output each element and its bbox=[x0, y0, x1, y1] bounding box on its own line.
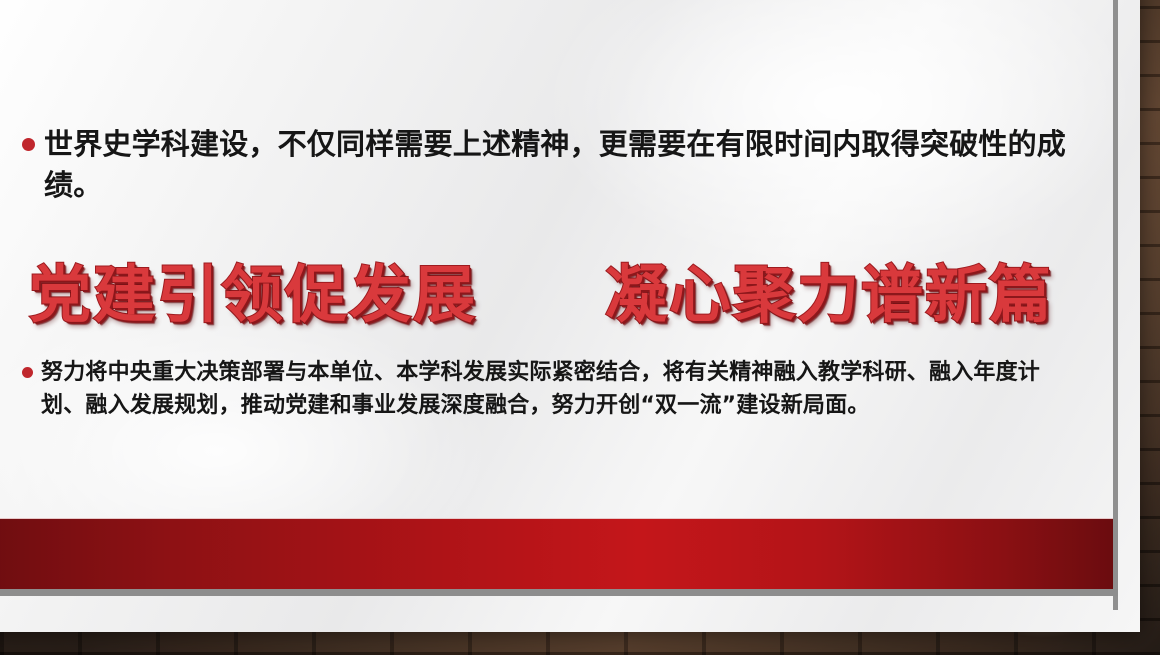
footer-band-shadow bbox=[0, 589, 1118, 596]
bullet-paragraph-bottom: 努力将中央重大决策部署与本单位、本学科发展实际紧密结合，将有关精神融入教学科研、… bbox=[22, 356, 1080, 422]
headline-wordart: 党建引领促发展 凝心聚力谱新篇 bbox=[0, 244, 1096, 334]
bullet-text-top: 世界史学科建设，不仅同样需要上述精神，更需要在有限时间内取得突破性的成绩。 bbox=[44, 124, 1077, 206]
footer-red-band bbox=[0, 518, 1113, 589]
bullet-dot-icon bbox=[22, 138, 35, 151]
bullet-dot-icon bbox=[22, 367, 33, 378]
slide-panel: 世界史学科建设，不仅同样需要上述精神，更需要在有限时间内取得突破性的成绩。 党建… bbox=[0, 0, 1140, 632]
bullet-paragraph-top: 世界史学科建设，不仅同样需要上述精神，更需要在有限时间内取得突破性的成绩。 bbox=[22, 124, 1077, 206]
bullet-text-bottom: 努力将中央重大决策部署与本单位、本学科发展实际紧密结合，将有关精神融入教学科研、… bbox=[41, 356, 1080, 422]
slide-stage: 世界史学科建设，不仅同样需要上述精神，更需要在有限时间内取得突破性的成绩。 党建… bbox=[0, 0, 1160, 655]
